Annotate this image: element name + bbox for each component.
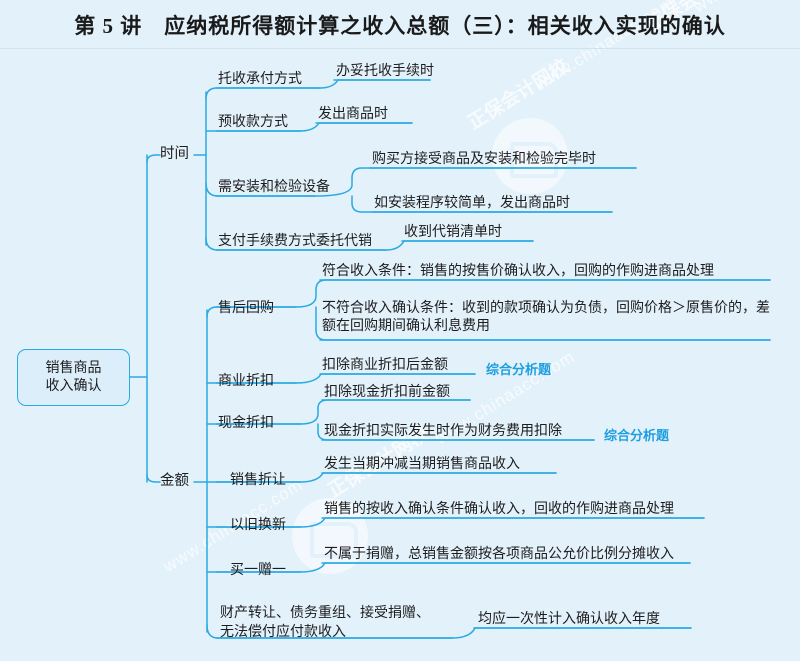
leaf-trade-in-recognition[interactable]: 销售的按收入确认条件确认收入，回收的作购进商品处理 [324,501,674,519]
node-sales-allowance[interactable]: 销售折让 [230,472,286,490]
tag-comprehensive-analysis-question: 综合分析题 [486,359,551,378]
leaf-cash-discount-as-finance-expense[interactable]: 现金折扣实际发生时作为财务费用扣除 [324,423,562,441]
node-installation-inspection[interactable]: 需安装和检验设备 [218,179,330,197]
branch-label-time[interactable]: 时间 [160,145,189,164]
leaf-offset-current-period-revenue[interactable]: 发生当期冲减当期销售商品收入 [324,456,520,474]
node-buy-one-get-one[interactable]: 买一赠一 [230,562,286,580]
root-node-label-line2: 收入确认 [46,378,102,396]
node-trade-discount[interactable]: 商业折扣 [218,373,274,391]
leaf-buyer-accepts-goods[interactable]: 购买方接受商品及安装和检验完毕时 [372,151,596,169]
leaf-repurchase-fails-conditions[interactable]: 不符合收入确认条件：收到的款项确认为负债，回购价格＞原售价的，差额在回购期间确认… [322,300,770,337]
leaf-yushoukuan-goods-shipped[interactable]: 发出商品时 [318,106,388,124]
node-yushoukuan[interactable]: 预收款方式 [218,114,288,132]
node-sale-with-repurchase[interactable]: 售后回购 [218,300,274,318]
leaf-cash-discount-before-amount[interactable]: 扣除现金折扣前金额 [324,384,450,402]
node-property-transfer-line2[interactable]: 无法偿付应付款收入 [220,624,346,642]
page-title: 第 5 讲 应纳税所得额计算之收入总额（三）：相关收入实现的确认 [0,10,800,40]
leaf-simple-installation[interactable]: 如安装程序较简单，发出商品时 [374,195,570,213]
node-property-transfer-line1[interactable]: 财产转让、债务重组、接受捐赠、 [220,605,430,623]
leaf-trade-discount-amount[interactable]: 扣除商业折扣后金额 [322,357,448,375]
node-consignment-with-fee[interactable]: 支付手续费方式委托代销 [218,233,372,251]
node-tuoshou-chengfu[interactable]: 托收承付方式 [218,71,302,89]
branch-label-amount[interactable]: 金额 [160,472,189,491]
title-divider [0,48,800,49]
leaf-consignment-list-received[interactable]: 收到代销清单时 [404,224,502,242]
leaf-lump-sum-recognition-year[interactable]: 均应一次性计入确认收入年度 [478,611,660,629]
tag-comprehensive-analysis-question: 综合分析题 [604,425,669,444]
node-trade-in[interactable]: 以旧换新 [230,517,286,535]
leaf-repurchase-meets-conditions[interactable]: 符合收入条件：销售的按售价确认收入，回购的作购进商品处理 [322,263,714,281]
root-node-sales-revenue-recognition[interactable]: 销售商品 收入确认 [17,349,130,406]
root-node-label-line1: 销售商品 [46,360,102,378]
leaf-tuoshou-procedure-completed[interactable]: 办妥托收手续时 [336,63,434,81]
mindmap-canvas: www.chinaacc.com 正保会计网校 www.chinaacc.com… [0,0,800,661]
leaf-bogo-not-donation[interactable]: 不属于捐赠，总销售金额按各项商品公允价比例分摊收入 [324,546,674,564]
node-cash-discount[interactable]: 现金折扣 [218,415,274,433]
